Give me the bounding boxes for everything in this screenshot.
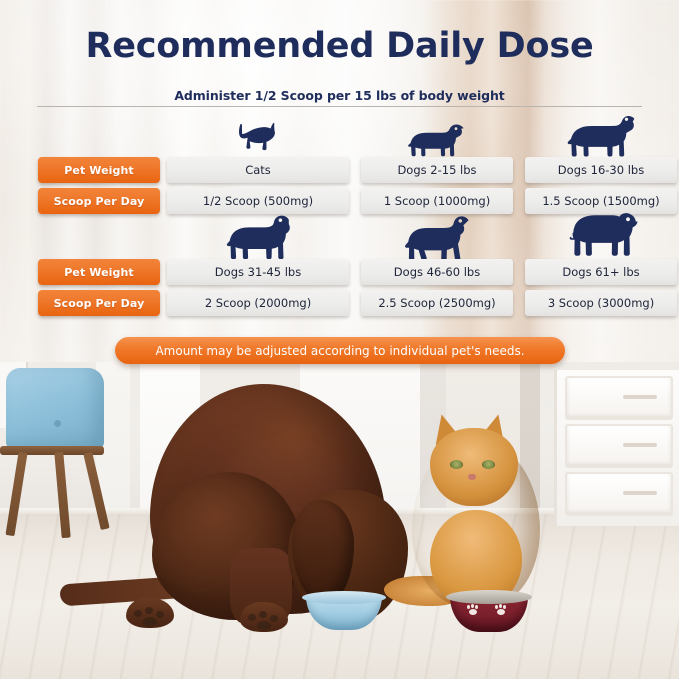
cell-pet-weight-col2: Dogs 46-60 lbs [361, 259, 513, 285]
cell-scoop-col1: 2 Scoop (2000mg) [167, 290, 349, 316]
dog-paw [240, 602, 288, 632]
pet-weight-row: Pet Weight Dogs 31-45 lbs Dogs 46-60 lbs… [37, 259, 642, 285]
red-bowl-rim [446, 590, 532, 604]
retriever-dog-icon [361, 214, 513, 259]
page-subtitle: Administer 1/2 Scoop per 15 lbs of body … [0, 88, 679, 103]
cat-nose [468, 474, 476, 480]
paw-print-icon [466, 605, 479, 616]
cell-scoop-col3: 3 Scoop (3000mg) [525, 290, 677, 316]
cell-pet-weight-col1: Cats [167, 157, 349, 183]
mastiff-dog-icon [525, 214, 677, 259]
paw-print-icon [494, 605, 507, 616]
drawer-handle [623, 395, 657, 399]
dosage-table-block-1: Pet Weight Cats Dogs 2-15 lbs Dogs 16-30… [37, 112, 642, 219]
drawer [565, 472, 673, 516]
row-label-scoop-per-day: Scoop Per Day [38, 188, 160, 214]
scoop-per-day-row: Scoop Per Day 1/2 Scoop (500mg) 1 Scoop … [37, 188, 642, 214]
blue-chair-back [6, 368, 104, 450]
cat-eye [482, 460, 495, 469]
icon-row [37, 112, 642, 157]
icon-row [37, 214, 642, 259]
dosage-table-block-2: Pet Weight Dogs 31-45 lbs Dogs 46-60 lbs… [37, 214, 642, 321]
chair-dimple [54, 420, 61, 427]
row-label-pet-weight: Pet Weight [38, 259, 160, 285]
cat-head [430, 428, 518, 506]
drawer [565, 424, 673, 468]
page-title: Recommended Daily Dose [0, 26, 679, 66]
cell-scoop-col1: 1/2 Scoop (500mg) [167, 188, 349, 214]
cat-icon [167, 112, 349, 157]
cell-pet-weight-col3: Dogs 61+ lbs [525, 259, 677, 285]
blue-bowl-rim [302, 591, 386, 604]
cell-pet-weight-col2: Dogs 2-15 lbs [361, 157, 513, 183]
cell-pet-weight-col3: Dogs 16-30 lbs [525, 157, 677, 183]
white-drawer-cabinet [554, 370, 679, 526]
labrador-dog-icon [167, 214, 349, 259]
adjustment-note-banner: Amount may be adjusted according to indi… [115, 337, 565, 364]
drawer-handle [623, 443, 657, 447]
cat-eye [450, 460, 463, 469]
row-label-scoop-per-day: Scoop Per Day [38, 290, 160, 316]
infographic-page: Recommended Daily Dose Administer 1/2 Sc… [0, 0, 679, 679]
cell-scoop-col2: 1 Scoop (1000mg) [361, 188, 513, 214]
dog-paw [126, 598, 174, 628]
setter-dog-icon [525, 112, 677, 157]
row-label-pet-weight: Pet Weight [38, 157, 160, 183]
cell-pet-weight-col1: Dogs 31-45 lbs [167, 259, 349, 285]
dachshund-dog-icon [361, 112, 513, 157]
pet-weight-row: Pet Weight Cats Dogs 2-15 lbs Dogs 16-30… [37, 157, 642, 183]
scoop-per-day-row: Scoop Per Day 2 Scoop (2000mg) 2.5 Scoop… [37, 290, 642, 316]
drawer-handle [623, 491, 657, 495]
header-divider [37, 106, 642, 107]
pets-photo [0, 362, 679, 679]
cell-scoop-col2: 2.5 Scoop (2500mg) [361, 290, 513, 316]
drawer [565, 376, 673, 420]
